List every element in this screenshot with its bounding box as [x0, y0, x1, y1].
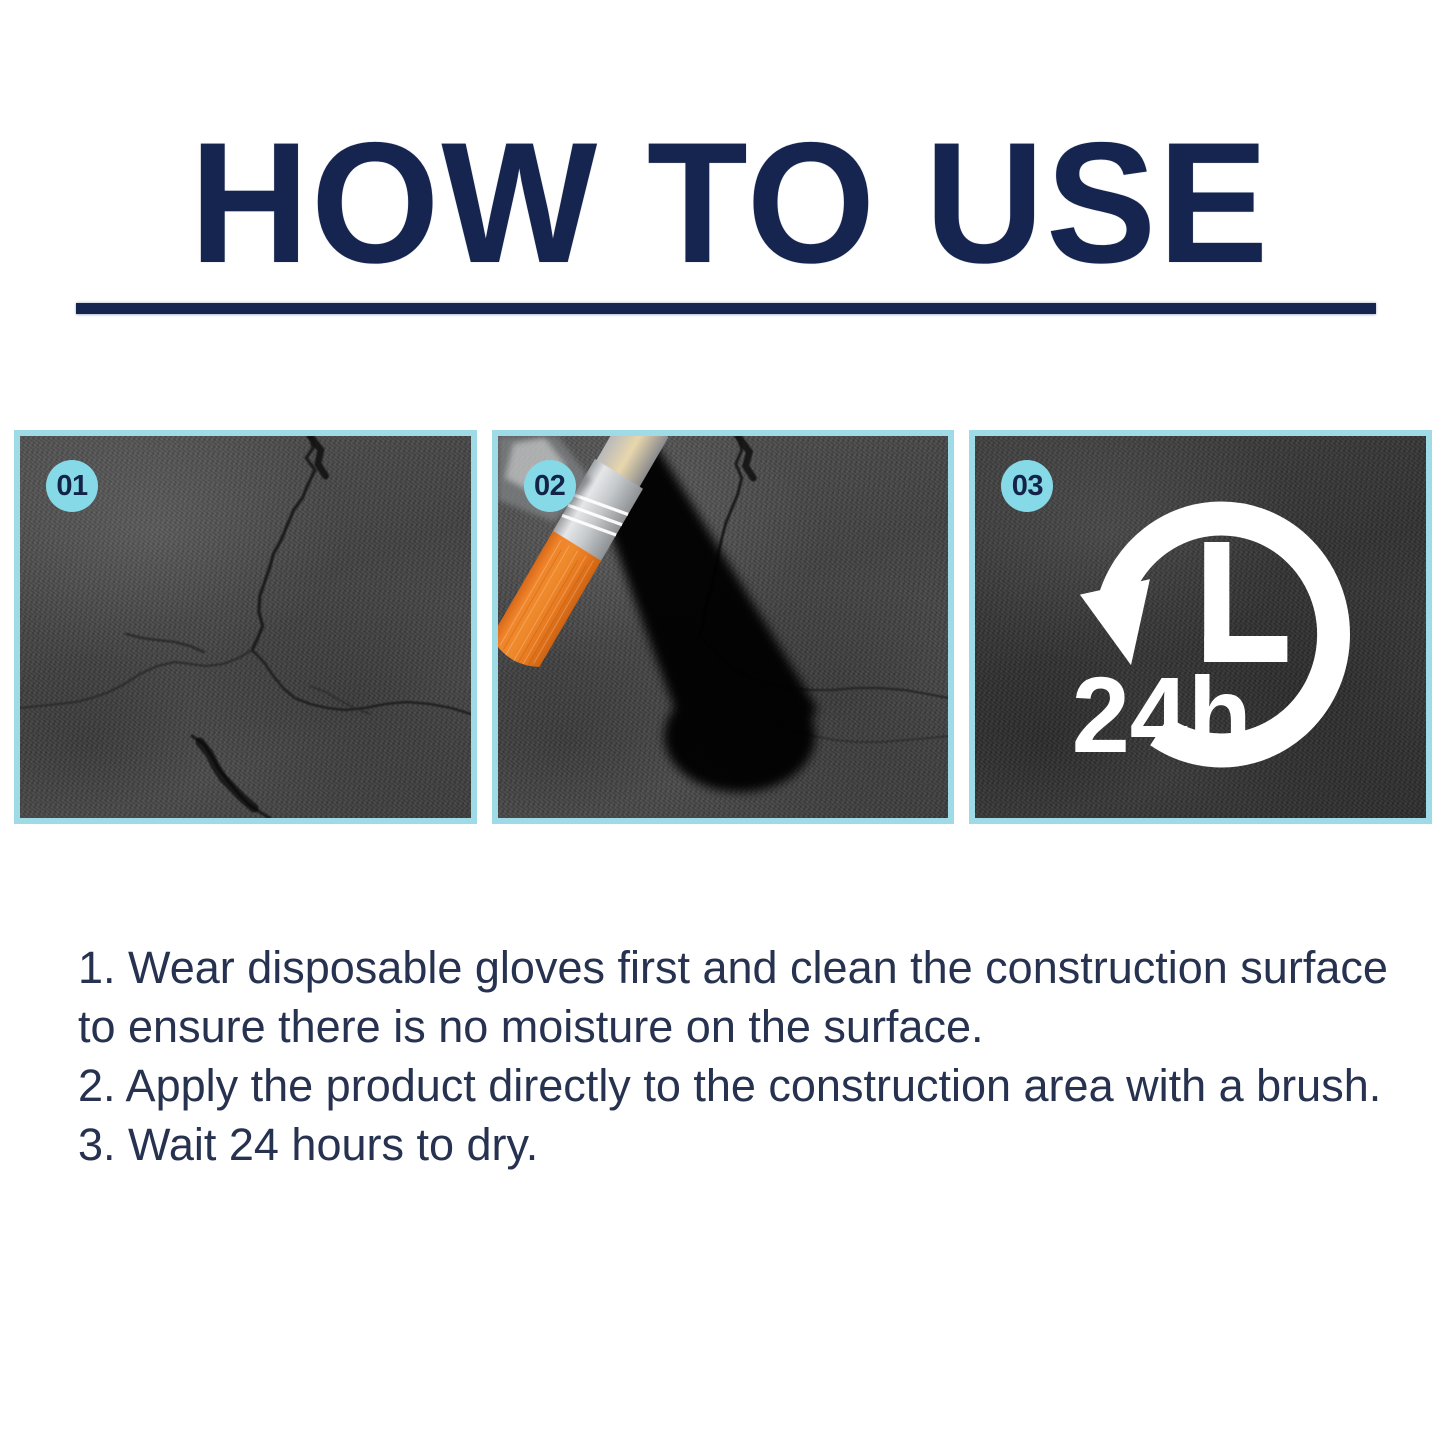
step-panel-02[interactable]: 02	[492, 430, 955, 824]
step-panel-03[interactable]: 24h 03	[969, 430, 1432, 824]
step-badge-02: 02	[524, 460, 576, 512]
instruction-line-2: 2. Apply the product directly to the con…	[78, 1056, 1398, 1115]
step-badge-03: 03	[1001, 460, 1053, 512]
step-panel-01[interactable]: 01	[14, 430, 477, 824]
page-title: HOW TO USE	[101, 118, 1359, 288]
title-divider	[76, 303, 1376, 314]
clock-duration-label: 24h	[1072, 654, 1252, 775]
instructions-block: 1. Wear disposable gloves first and clea…	[78, 938, 1398, 1174]
step-panels: 01	[14, 430, 1432, 824]
instruction-line-3: 3. Wait 24 hours to dry.	[78, 1115, 1398, 1174]
instruction-line-1: 1. Wear disposable gloves first and clea…	[78, 938, 1398, 1056]
step-badge-01: 01	[46, 460, 98, 512]
